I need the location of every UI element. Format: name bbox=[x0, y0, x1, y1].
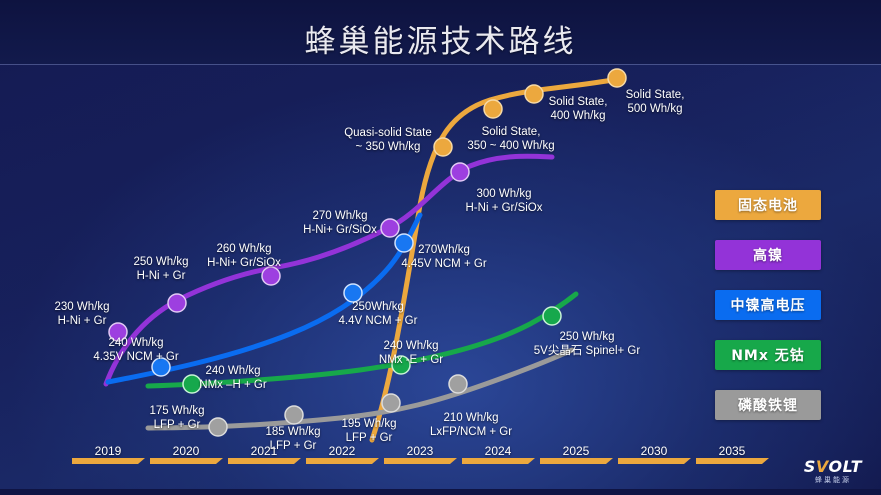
anno-hni-270-line2: H-Ni+ Gr/SiOx bbox=[270, 223, 410, 237]
axis-segment bbox=[384, 458, 457, 464]
anno-hni-300-line1: 300 Wh/kg bbox=[434, 187, 574, 201]
anno-lfp-210-line1: 210 Wh/kg bbox=[401, 411, 541, 425]
bottom-strip bbox=[0, 489, 881, 495]
x-axis-label-2019: 2019 bbox=[78, 444, 138, 458]
anno-hni-230-line1: 230 Wh/kg bbox=[12, 300, 152, 314]
anno-hni-270-line1: 270 Wh/kg bbox=[270, 209, 410, 223]
legend-item-4[interactable]: NMx 无钴 bbox=[715, 340, 821, 370]
anno-hni-300-line2: H-Ni + Gr/SiOx bbox=[434, 201, 574, 215]
logo-letter-v: V bbox=[816, 457, 829, 476]
anno-lfp-210-line2: LxFP/NCM + Gr bbox=[401, 425, 541, 439]
legend-item-label: NMx 无钴 bbox=[731, 345, 805, 365]
slide-root: 蜂巢能源技术路线 bbox=[0, 0, 881, 495]
anno-ncm-240: 240 Wh/kg4.35V NCM + Gr bbox=[66, 336, 206, 364]
anno-hni-260-line2: H-Ni+ Gr/SiOx bbox=[174, 256, 314, 270]
x-axis-label-2021: 2021 bbox=[234, 444, 294, 458]
anno-nmx-250-line2: 5V尖晶石 Spinel+ Gr bbox=[517, 344, 657, 358]
anno-solid-350-line2: ~ 350 Wh/kg bbox=[318, 140, 458, 154]
marker-hni-300 bbox=[451, 163, 469, 181]
anno-hni-270: 270 Wh/kgH-Ni+ Gr/SiOx bbox=[270, 209, 410, 237]
anno-hni-260: 260 Wh/kgH-Ni+ Gr/SiOx bbox=[174, 242, 314, 270]
anno-ncm-240-line1: 240 Wh/kg bbox=[66, 336, 206, 350]
anno-nmx-250-line1: 250 Wh/kg bbox=[517, 330, 657, 344]
anno-solid-350-line1: Quasi-solid State bbox=[318, 126, 458, 140]
anno-nmx-240h-line2: NMx –H + Gr bbox=[163, 378, 303, 392]
x-axis-label-2030: 2030 bbox=[624, 444, 684, 458]
logo-subtitle: 蜂巢能源 bbox=[815, 476, 851, 485]
anno-solid-500-line1: Solid State, bbox=[585, 88, 725, 102]
anno-ncm-240-line2: 4.35V NCM + Gr bbox=[66, 350, 206, 364]
svolt-logo: SVOLT 蜂巢能源 bbox=[793, 457, 873, 487]
marker-solid-375 bbox=[484, 100, 502, 118]
anno-nmx-240e-line1: 240 Wh/kg bbox=[341, 339, 481, 353]
x-axis-label-2024: 2024 bbox=[468, 444, 528, 458]
logo-letter-s: S bbox=[804, 457, 816, 476]
anno-hni-250-line2: H-Ni + Gr bbox=[91, 269, 231, 283]
anno-ncm-250: 250Wh/kg4.4V NCM + Gr bbox=[308, 300, 448, 328]
x-axis-arrows bbox=[72, 458, 769, 464]
anno-nmx-240e: 240 Wh/kgNMx -E + Gr bbox=[341, 339, 481, 367]
axis-segment bbox=[150, 458, 223, 464]
axis-segment bbox=[618, 458, 691, 464]
legend-item-label: 固态电池 bbox=[738, 195, 798, 215]
anno-solid-350: Quasi-solid State~ 350 Wh/kg bbox=[318, 126, 458, 154]
anno-solid-375-line2: 350 ~ 400 Wh/kg bbox=[441, 139, 581, 153]
axis-segment bbox=[462, 458, 535, 464]
marker-lfp-210 bbox=[449, 375, 467, 393]
legend-item-label: 中镍高电压 bbox=[731, 295, 806, 315]
anno-solid-375: Solid State,350 ~ 400 Wh/kg bbox=[441, 125, 581, 153]
anno-lfp-175-line1: 175 Wh/kg bbox=[107, 404, 247, 418]
anno-solid-500-line2: 500 Wh/kg bbox=[585, 102, 725, 116]
axis-segment bbox=[306, 458, 379, 464]
x-axis-label-2025: 2025 bbox=[546, 444, 606, 458]
marker-solid-500 bbox=[608, 69, 626, 87]
anno-hni-230: 230 Wh/kgH-Ni + Gr bbox=[12, 300, 152, 328]
anno-hni-260-line1: 260 Wh/kg bbox=[174, 242, 314, 256]
legend-item-label: 高镍 bbox=[753, 245, 783, 265]
logo-wordmark: SVOLT bbox=[804, 459, 862, 475]
anno-nmx-240e-line2: NMx -E + Gr bbox=[341, 353, 481, 367]
anno-nmx-240h: 240 Wh/kgNMx –H + Gr bbox=[163, 364, 303, 392]
anno-ncm-270: 270Wh/kg4.45V NCM + Gr bbox=[374, 243, 514, 271]
anno-ncm-250-line1: 250Wh/kg bbox=[308, 300, 448, 314]
anno-lfp-210: 210 Wh/kgLxFP/NCM + Gr bbox=[401, 411, 541, 439]
anno-ncm-270-line1: 270Wh/kg bbox=[374, 243, 514, 257]
marker-lfp-195 bbox=[382, 394, 400, 412]
legend: 固态电池高镍中镍高电压NMx 无钴磷酸铁锂 bbox=[715, 190, 825, 440]
logo-letters-olt: OLT bbox=[829, 457, 863, 476]
legend-item-3[interactable]: 中镍高电压 bbox=[715, 290, 821, 320]
anno-nmx-250: 250 Wh/kg5V尖晶石 Spinel+ Gr bbox=[517, 330, 657, 358]
anno-nmx-240h-line1: 240 Wh/kg bbox=[163, 364, 303, 378]
axis-segment bbox=[540, 458, 613, 464]
x-axis-label-2022: 2022 bbox=[312, 444, 372, 458]
anno-ncm-270-line2: 4.45V NCM + Gr bbox=[374, 257, 514, 271]
marker-nmx-250 bbox=[543, 307, 561, 325]
anno-hni-230-line2: H-Ni + Gr bbox=[12, 314, 152, 328]
legend-item-5[interactable]: 磷酸铁锂 bbox=[715, 390, 821, 420]
axis-segment bbox=[696, 458, 769, 464]
anno-hni-300: 300 Wh/kgH-Ni + Gr/SiOx bbox=[434, 187, 574, 215]
axis-segment bbox=[228, 458, 301, 464]
x-axis-label-2020: 2020 bbox=[156, 444, 216, 458]
anno-ncm-250-line2: 4.4V NCM + Gr bbox=[308, 314, 448, 328]
legend-item-label: 磷酸铁锂 bbox=[738, 395, 798, 415]
legend-item-2[interactable]: 高镍 bbox=[715, 240, 821, 270]
x-axis-label-2035: 2035 bbox=[702, 444, 762, 458]
anno-solid-500: Solid State,500 Wh/kg bbox=[585, 88, 725, 116]
x-axis-label-2023: 2023 bbox=[390, 444, 450, 458]
anno-solid-375-line1: Solid State, bbox=[441, 125, 581, 139]
legend-item-1[interactable]: 固态电池 bbox=[715, 190, 821, 220]
marker-hni-250 bbox=[168, 294, 186, 312]
axis-segment bbox=[72, 458, 145, 464]
